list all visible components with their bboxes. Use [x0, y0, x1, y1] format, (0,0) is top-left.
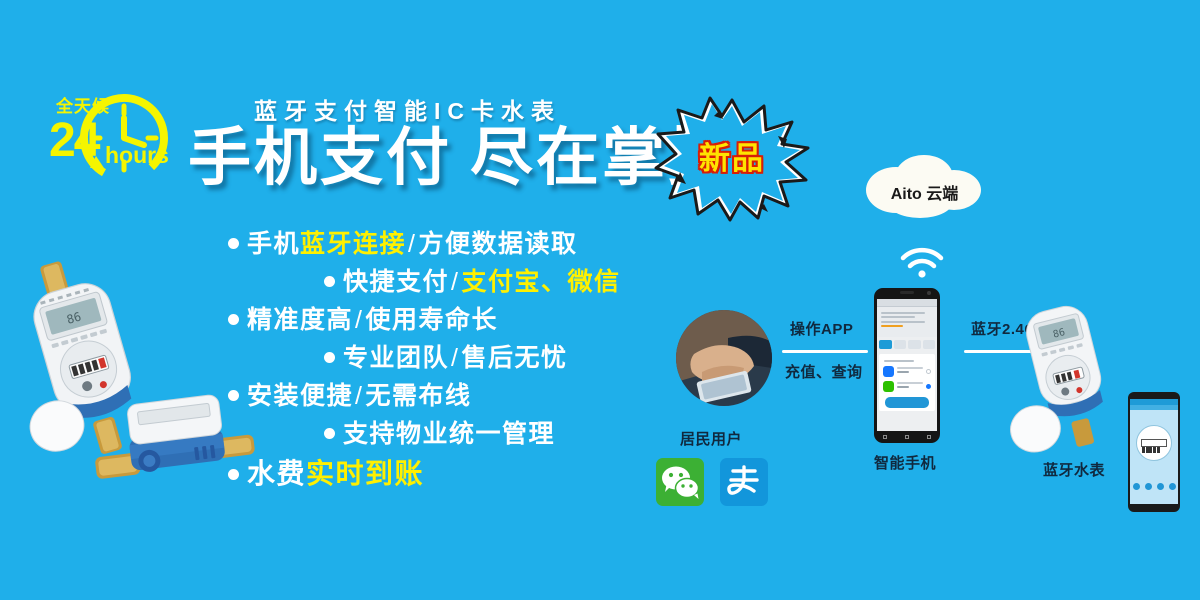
bullet-dot-icon: [228, 238, 239, 249]
smartphone-mockup: [874, 288, 940, 443]
bullet-text-plain: 售后无忧: [461, 344, 567, 372]
bullet-dot-icon: [324, 352, 335, 363]
headline-part-1: 手机支付: [188, 123, 452, 193]
new-product-badge: 新品: [652, 96, 812, 222]
feature-bullet: 专业团队/售后无忧: [228, 346, 698, 371]
badge-hours-text: hours: [105, 144, 169, 167]
resident-user-photo: [676, 310, 772, 406]
phone-camera: [927, 291, 931, 295]
alipay-icon[interactable]: [720, 458, 768, 506]
phone-speaker: [900, 291, 914, 294]
feature-bullet: 快捷支付/支付宝、微信: [228, 270, 698, 295]
cloud-badge: Aito 云端: [862, 150, 987, 230]
diagram-link-app: 操作APP: [790, 318, 853, 339]
bullet-text-plain: 安装便捷: [247, 382, 353, 410]
alipay-row-icon: [883, 366, 894, 377]
bullet-text-slash: /: [406, 230, 418, 258]
bullet-text-slash: /: [353, 306, 365, 334]
bullet-text-plain: 手机: [247, 230, 300, 258]
wifi-icon: [897, 245, 947, 279]
bullet-text-slash: /: [353, 382, 365, 410]
bullet-dot-icon: [324, 276, 335, 287]
bullet-text-highlight: 支付宝、微信: [461, 268, 620, 296]
badge-number: 24: [49, 117, 98, 165]
bullet-text-plain: 快捷支付: [343, 268, 449, 296]
meter-app-action-icons[interactable]: [1130, 483, 1178, 490]
alipay-radio[interactable]: [926, 369, 931, 374]
phone-nav-bar: [874, 431, 940, 443]
bullet-text-plain: 水费: [247, 458, 306, 489]
bullet-dot-icon: [228, 469, 239, 480]
wechat-radio[interactable]: [926, 384, 931, 389]
badge-allday-text: 全天候: [56, 98, 110, 115]
bullet-text-plain: 专业团队: [343, 344, 449, 372]
bullet-text-slash: /: [449, 344, 461, 372]
24-hours-badge: 全天候 24 hours: [48, 88, 193, 190]
wechat-row-icon: [883, 381, 894, 392]
bullet-text-highlight: 蓝牙连接: [300, 230, 406, 258]
payment-icons: [656, 458, 768, 506]
bullet-text-highlight: 实时到账: [306, 458, 424, 489]
feature-bullet: 精准度高/使用寿命长: [228, 308, 698, 333]
meter-app-screen: [1130, 399, 1178, 504]
diagram-label-smartphone: 智能手机: [874, 452, 936, 473]
cloud-label: Aito 云端: [862, 180, 987, 204]
bullet-text-slash: /: [449, 268, 461, 296]
bullet-dot-icon: [324, 428, 335, 439]
feature-bullet: 水费实时到账: [228, 460, 698, 488]
feature-bullet: 支持物业统一管理: [228, 422, 698, 447]
feature-bullet: 安装便捷/无需布线: [228, 384, 698, 409]
diagram-label-meter: 蓝牙水表: [1043, 459, 1105, 480]
diagram-label-resident: 居民用户: [680, 428, 742, 449]
bullet-dot-icon: [228, 390, 239, 401]
bullet-text-plain: 使用寿命长: [365, 306, 498, 334]
wechat-pay-icon[interactable]: [656, 458, 704, 506]
feature-bullet-list: 手机蓝牙连接/方便数据读取快捷支付/支付宝、微信精准度高/使用寿命长专业团队/售…: [228, 232, 698, 501]
feature-bullet: 手机蓝牙连接/方便数据读取: [228, 232, 698, 257]
bullet-text-plain: 无需布线: [365, 382, 471, 410]
confirm-pay-button[interactable]: [885, 397, 929, 408]
meter-register-digits: [1141, 439, 1167, 447]
bullet-dot-icon: [228, 314, 239, 325]
new-badge-label: 新品: [652, 143, 812, 174]
bullet-text-plain: 精准度高: [247, 306, 353, 334]
diagram-link-charge: 充值、查询: [785, 361, 863, 382]
phone-screen: [877, 299, 937, 431]
meter-reading-phone: [1128, 392, 1180, 512]
promo-banner: 全天候 24 hours 蓝牙支付智能IC卡水表 手机支付尽在掌握 新品: [0, 0, 1200, 600]
diagram-divider-left: [782, 350, 868, 353]
bullet-text-plain: 方便数据读取: [418, 230, 577, 258]
bullet-text-plain: 支持物业统一管理: [343, 420, 555, 448]
banner-subtitle: 蓝牙支付智能IC卡水表: [254, 92, 561, 126]
